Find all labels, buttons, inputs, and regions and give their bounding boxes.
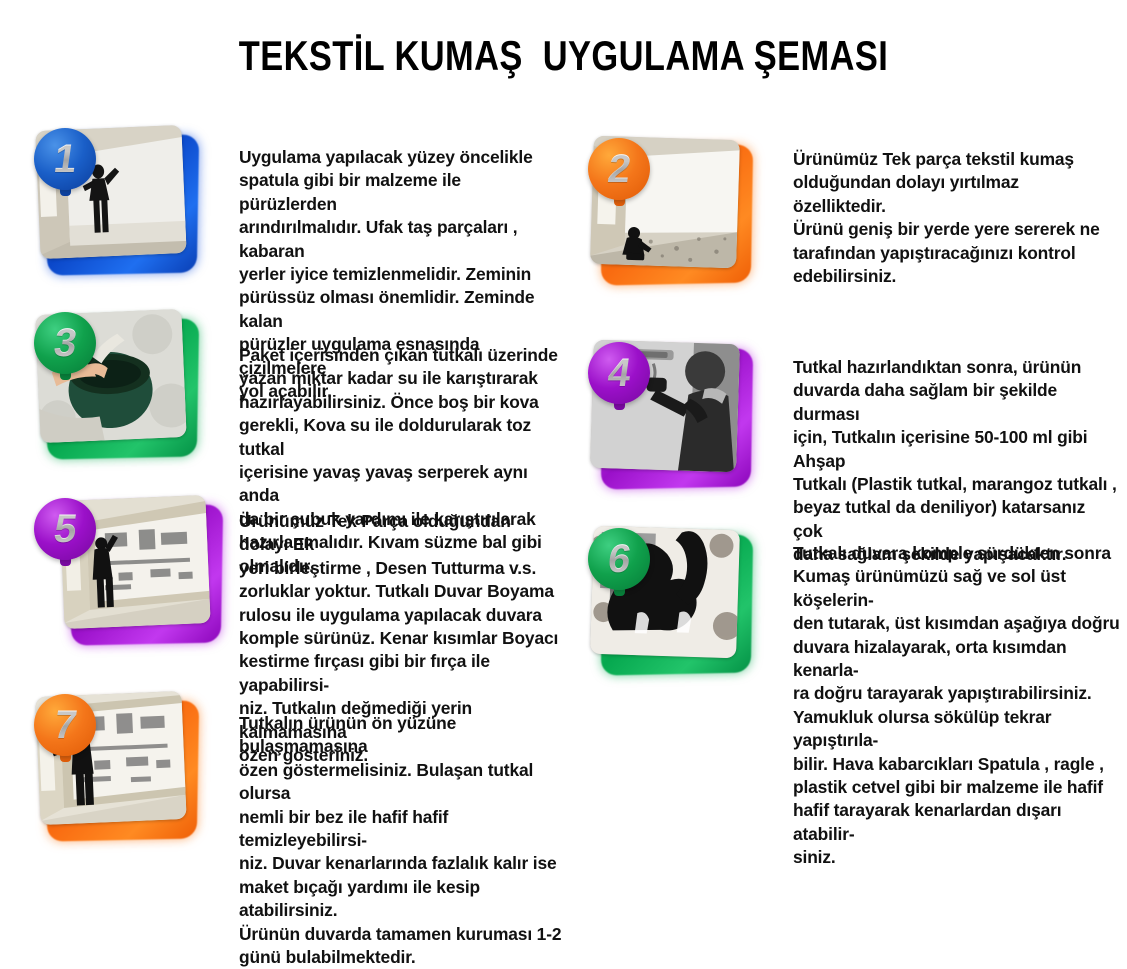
step-text-7: Tutkalın ürünün ön yüzüne bulaşmamasına … bbox=[239, 712, 567, 969]
step-item-7: 7 Tutkalın ürünün ön yüzüne bulaşmamasın… bbox=[34, 694, 574, 879]
step-badge-2: 2 bbox=[588, 138, 650, 200]
step-item-5: 5 Ürünümüz Tek Parça olduğundan dolayı E… bbox=[58, 498, 598, 683]
step-item-4: 4 Tutkal hazırlandıktan sonra, ürünün du… bbox=[588, 342, 1127, 527]
step-number-label: 2 bbox=[584, 138, 655, 200]
step-item-3: 3 Paket içerisinden çıkan tutkalı üzerin… bbox=[34, 312, 574, 497]
step-text-6: Tutkalı duvara komple sürdükten sonra Ku… bbox=[793, 542, 1121, 870]
step-number-label: 5 bbox=[30, 498, 101, 560]
step-text-2: Ürünümüz Tek parça tekstil kumaş olduğun… bbox=[793, 148, 1113, 288]
page-title: TEKSTİL KUMAŞ UYGULAMA ŞEMASI bbox=[101, 32, 1025, 80]
step-number-label: 7 bbox=[30, 694, 101, 756]
step-badge-5: 5 bbox=[34, 498, 96, 560]
step-number-label: 6 bbox=[584, 528, 655, 590]
step-badge-7: 7 bbox=[34, 694, 96, 756]
step-badge-4: 4 bbox=[588, 342, 650, 404]
step-badge-6: 6 bbox=[588, 528, 650, 590]
step-number-label: 4 bbox=[584, 342, 655, 404]
step-badge-3: 3 bbox=[34, 312, 96, 374]
step-item-6: 6 Tutkalı duvara komple sürdükten sonra … bbox=[588, 528, 1127, 713]
step-number-label: 1 bbox=[30, 128, 101, 190]
step-badge-1: 1 bbox=[34, 128, 96, 190]
step-item-2: 2 Ürünümüz Tek parça tekstil kumaş olduğ… bbox=[588, 138, 1127, 323]
step-number-label: 3 bbox=[30, 312, 101, 374]
step-item-1: 1 Uygulama yapılacak yüzey öncelikle spa… bbox=[34, 128, 574, 313]
